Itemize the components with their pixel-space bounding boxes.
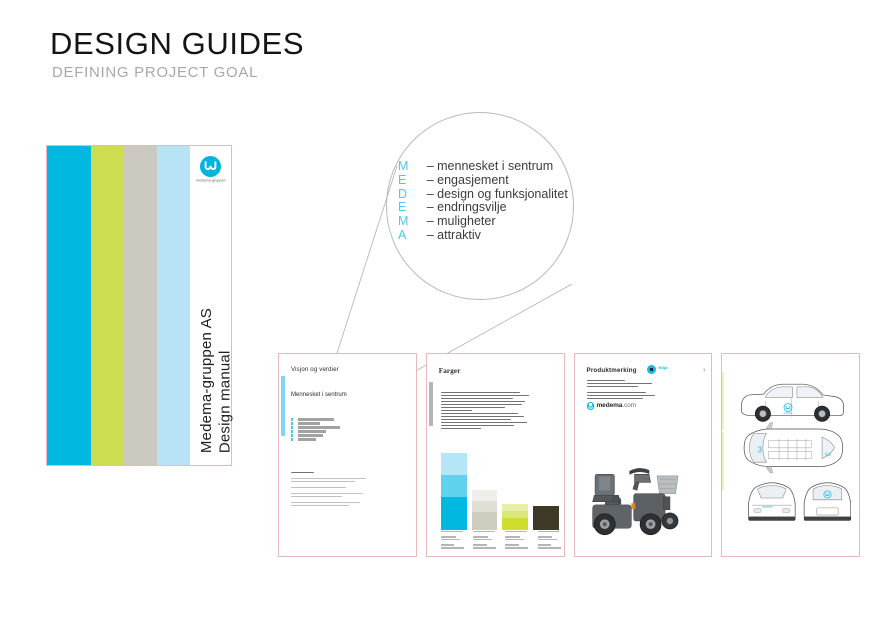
cover-title: Medema-gruppen AS Design manual [198, 308, 235, 453]
cover-stripe-warm-gray [124, 146, 157, 465]
acronym-letter: E [398, 174, 409, 188]
swatch-column-olive [533, 506, 559, 530]
medema-com-wordmark: medema.com [587, 402, 636, 410]
acronym-letter: E [398, 201, 409, 215]
swatch-labels [441, 531, 565, 551]
cover-title-line-1: Medema-gruppen AS [198, 308, 216, 453]
vehicle-livery-illustrations: 3 3 [736, 360, 851, 550]
page1-title: Visjon og verdier [291, 367, 339, 373]
scooter-product-photo [583, 436, 704, 548]
acronym-value: – endringsvilje [427, 201, 568, 215]
cover-logo-wordmark: medema-gruppen [192, 179, 230, 183]
swatch-gray-tint-1 [472, 490, 498, 501]
swatch-cyan-tint-3 [441, 497, 467, 530]
acronym-value: – attraktiv [427, 229, 568, 243]
swatch-gray-tint-3 [472, 512, 498, 530]
swatch-column-gray [472, 490, 498, 530]
cover-white-panel: medema-gruppen Medema-gruppen AS Design … [190, 146, 231, 465]
acronym-letter: M [398, 160, 409, 174]
cover-title-line-2: Design manual [217, 308, 235, 453]
acronym-letter: D [398, 188, 409, 202]
medema-m-circle-icon [200, 156, 221, 177]
manual-page-visjon-og-verdier[interactable]: Visjon og verdier Mennesket i sentrum [278, 353, 417, 557]
acronym-letter: M [398, 215, 409, 229]
brand-name: medema.com [597, 402, 636, 409]
acronym-letter: A [398, 229, 409, 243]
page2-body-text [441, 392, 533, 429]
manual-page-bilmerking[interactable]: 3 3 [721, 353, 860, 557]
acronym-values: – mennesket i sentrum – engasjement – de… [427, 160, 568, 243]
page1-values-column [298, 418, 340, 441]
page-title: DESIGN GUIDES [50, 26, 304, 62]
produkt-badge-icon [647, 365, 656, 374]
cover-stripe-cyan [47, 146, 91, 465]
color-swatch-grid [441, 450, 559, 530]
produkt-badge-label: Miljø [659, 366, 668, 370]
page-edge-tab-yellow [721, 432, 724, 490]
svg-text:3: 3 [824, 452, 832, 456]
page-edge-tab [281, 376, 285, 436]
page-subtitle: DEFINING PROJECT GOAL [52, 64, 258, 81]
swatch-label [505, 531, 532, 551]
acronym-value: – mennesket i sentrum [427, 160, 568, 174]
swatch-column-lime [502, 504, 528, 530]
swatch-column-cyan [441, 453, 467, 530]
svg-text:3: 3 [758, 445, 763, 454]
acronym-value: – design og funksjonalitet [427, 188, 568, 202]
swatch-label [441, 531, 468, 551]
page-edge-tab [429, 382, 433, 426]
manual-page-farger[interactable]: Farger [426, 353, 565, 557]
swatch-lime-tint-1 [502, 504, 528, 511]
page3-body-text [587, 380, 661, 399]
page1-body-text [291, 472, 369, 506]
page3-title: Produktmerking [587, 367, 637, 374]
acronym-value: – muligheter [427, 215, 568, 229]
swatch-gray-tint-2 [472, 501, 498, 512]
swatch-cyan-tint-1 [441, 453, 467, 475]
swatch-label [473, 531, 500, 551]
cover-stripe-light-blue [157, 146, 190, 465]
swatch-lime-tint-2 [502, 511, 528, 518]
swatch-lime-tint-3 [502, 518, 528, 530]
manual-page-strip: Visjon og verdier Mennesket i sentrum [278, 353, 860, 557]
medema-acronym-block: M E D E M A – mennesket i sentrum – enga… [398, 160, 568, 243]
slide-canvas: DESIGN GUIDES DEFINING PROJECT GOAL mede… [0, 0, 880, 623]
swatch-cyan-tint-2 [441, 475, 467, 497]
cover-stripe-lime [91, 146, 124, 465]
page1-heading: Mennesket i sentrum [291, 392, 347, 398]
cover-logo: medema-gruppen [197, 156, 225, 182]
swatch-label [538, 531, 565, 551]
design-manual-cover: medema-gruppen Medema-gruppen AS Design … [46, 145, 232, 466]
manual-page-produktmerking[interactable]: Produktmerking Miljø 1 medema.com [574, 353, 713, 557]
medema-m-icon [587, 402, 595, 410]
page1-medema-list [291, 418, 340, 441]
acronym-letters: M E D E M A [398, 160, 409, 243]
page-edge-tab-yellow [721, 372, 724, 430]
acronym-value: – engasjement [427, 174, 568, 188]
page1-acronym-column [291, 418, 293, 441]
swatch-olive [533, 506, 559, 530]
page3-number: 1 [703, 367, 705, 372]
page2-title: Farger [439, 367, 461, 375]
